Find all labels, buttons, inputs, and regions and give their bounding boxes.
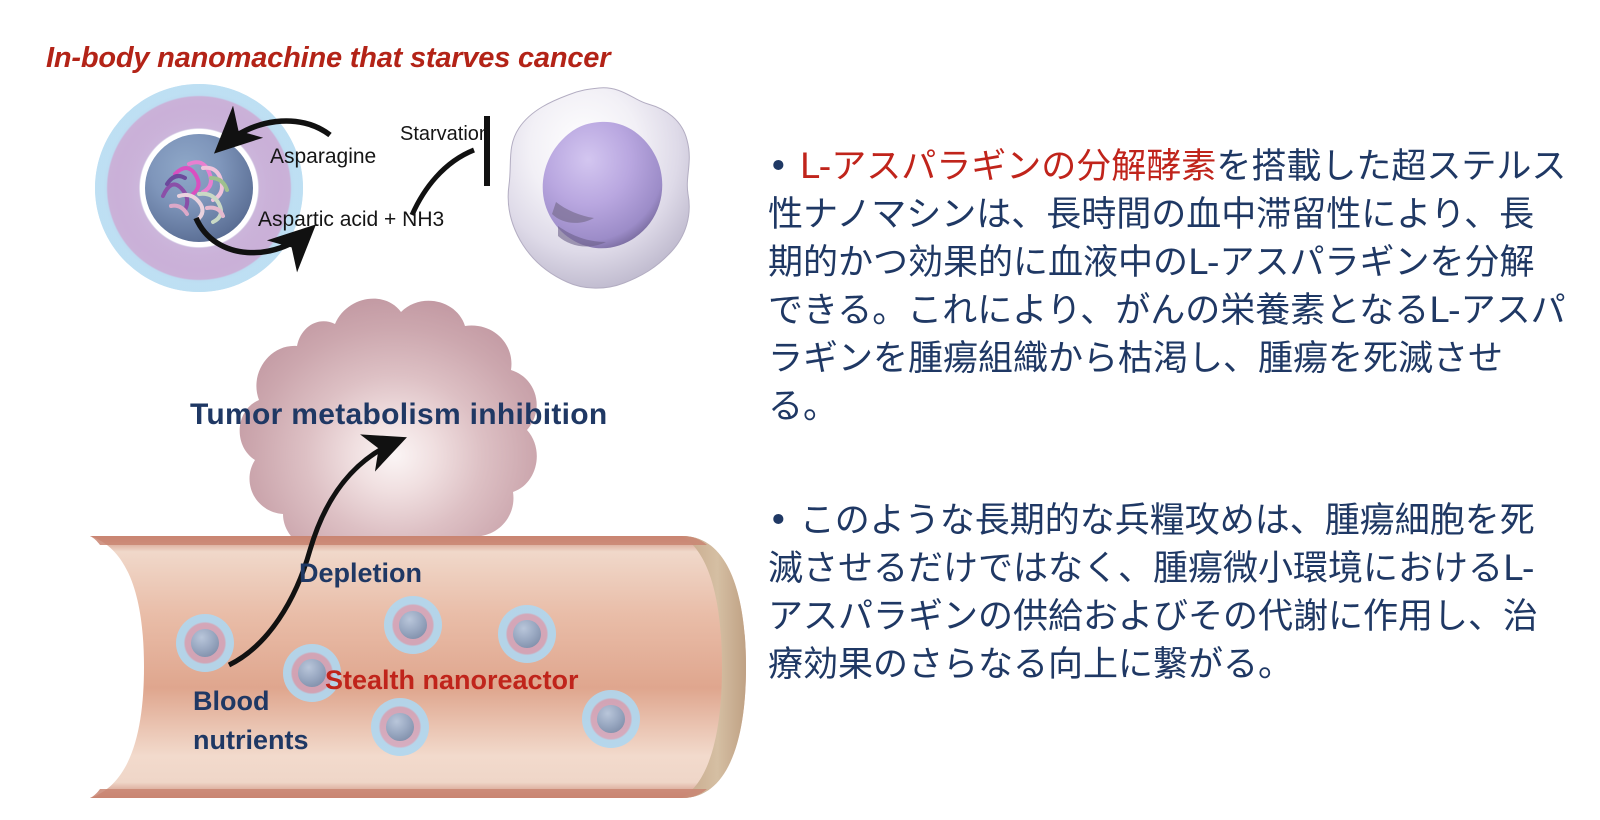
paragraph-1-bullet: • [768, 147, 789, 187]
label-blood-nutrients-line1: Blood [193, 682, 309, 721]
label-stealth-nanoreactor: Stealth nanoreactor [325, 665, 579, 696]
label-tumor-metabolism-inhibition: Tumor metabolism inhibition [190, 398, 608, 432]
text-column: • L-アスパラギンの分解酵素を搭載した超ステルス性ナノマシンは、長時間の血中滞… [762, 0, 1600, 820]
paragraph-1-spacer [789, 147, 800, 187]
paragraph-2-spacer [789, 501, 800, 541]
label-starvation: Starvation [400, 123, 490, 146]
paragraph-1: • L-アスパラギンの分解酵素を搭載した超ステルス性ナノマシンは、長時間の血中滞… [768, 143, 1568, 431]
paragraph-1-body: を搭載した超ステルス性ナノマシンは、長時間の血中滞留性により、長期的かつ効果的に… [768, 147, 1566, 427]
label-blood-nutrients-line2: nutrients [193, 721, 309, 760]
depletion-arrow-group [0, 280, 760, 820]
label-depletion: Depletion [299, 558, 422, 589]
paragraph-1-accent: L-アスパラギンの分解酵素 [800, 147, 1217, 187]
depletion-to-tumor-arrow [229, 440, 400, 665]
label-asparagine: Asparagine [270, 145, 376, 169]
label-blood-nutrients: Blood nutrients [193, 682, 309, 760]
paragraph-2: • このような長期的な兵糧攻めは、腫瘍細胞を死滅させるだけではなく、腫瘍微小環境… [768, 497, 1568, 689]
figure-panel: Asparagine Aspartic acid + NH3 Starvatio… [0, 0, 760, 820]
asparagine-arrow [220, 121, 330, 148]
paragraph-2-body: このような長期的な兵糧攻めは、腫瘍細胞を死滅させるだけではなく、腫瘍微小環境にお… [768, 501, 1538, 685]
label-aspartic-acid: Aspartic acid + NH3 [258, 208, 444, 232]
paragraph-2-bullet: • [768, 501, 789, 541]
